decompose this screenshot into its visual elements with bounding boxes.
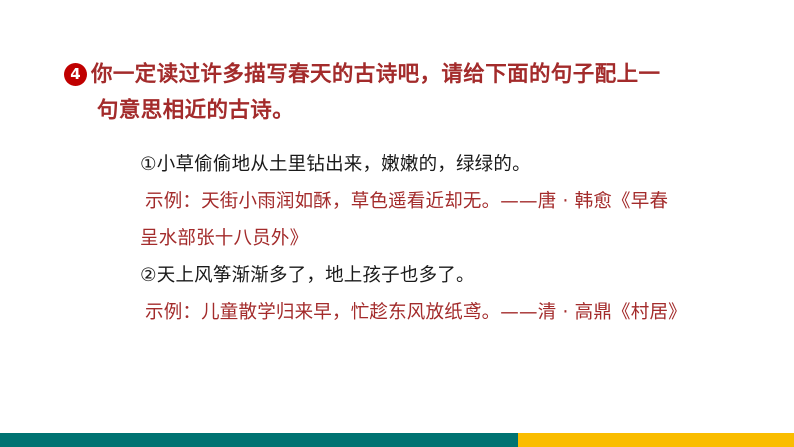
answer-body-block: ①小草偷偷地从土里钻出来，嫩嫩的，绿绿的。 示例：天街小雨润如酥，草色遥看近却无…: [140, 146, 760, 331]
item-example-2-line-1: 示例：儿童散学归来早，忙趁东风放纸鸢。——清 · 高鼎《村居》: [140, 294, 760, 331]
item-prompt-2: ②天上风筝渐渐多了，地上孩子也多了。: [140, 257, 760, 294]
item-example-1-line-2: 呈水部张十八员外》: [140, 220, 760, 257]
slide-canvas: 4 你一定读过许多描写春天的古诗吧，请给下面的句子配上一 句意思相近的古诗。 ①…: [0, 0, 794, 447]
question-number-badge: 4: [64, 63, 87, 86]
question-first-line: 4 你一定读过许多描写春天的古诗吧，请给下面的句子配上一: [64, 58, 754, 91]
question-text-line-2: 句意思相近的古诗。: [97, 94, 754, 127]
footer-bar-yellow: [518, 433, 794, 447]
footer-decoration: [0, 433, 794, 447]
question-text-line-1: 你一定读过许多描写春天的古诗吧，请给下面的句子配上一: [91, 58, 660, 91]
footer-bar-teal: [0, 433, 518, 447]
item-prompt-1: ①小草偷偷地从土里钻出来，嫩嫩的，绿绿的。: [140, 146, 760, 183]
item-example-1-line-1: 示例：天街小雨润如酥，草色遥看近却无。——唐 · 韩愈《早春: [140, 183, 760, 220]
question-block: 4 你一定读过许多描写春天的古诗吧，请给下面的句子配上一 句意思相近的古诗。: [64, 58, 754, 127]
